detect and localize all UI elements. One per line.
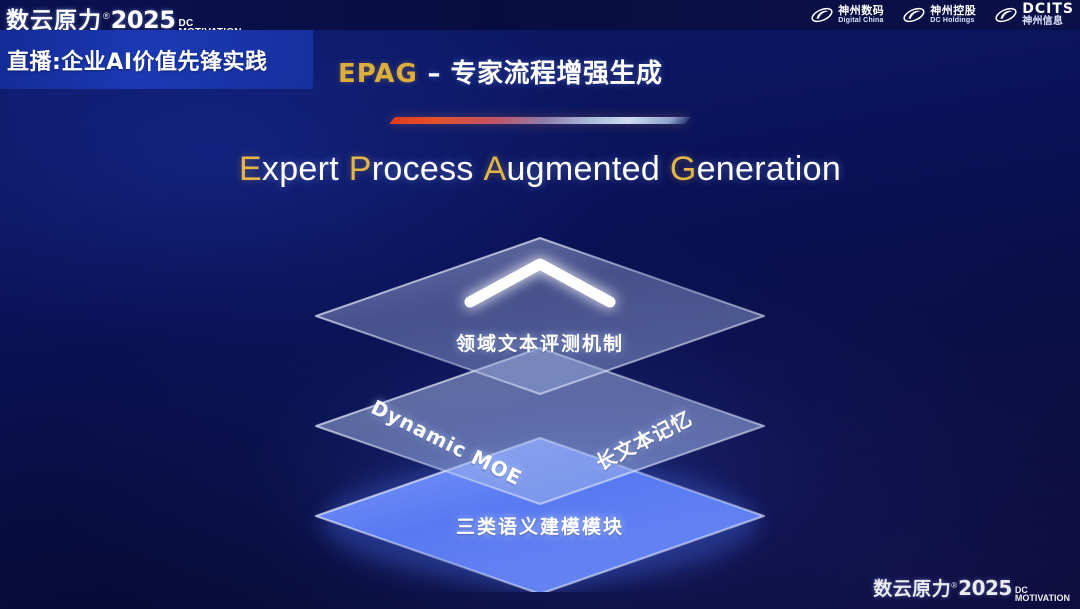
partner-logo-group: 神州数码 Digital China 神州控股 DC Holdings (810, 2, 1074, 27)
partner-name-en: DC Holdings (930, 17, 976, 24)
swirl-logo-icon (994, 5, 1018, 25)
footer-watermark-logo: 数云原力 ® 2025 DC MOTIVATION (873, 574, 1070, 605)
page-subtitle: Expert Process Augmented Generation (0, 150, 1080, 189)
isometric-layer-stack: 领域文本评测机制 Dynamic MOE 长文本记忆 三类语义建模模块 (290, 222, 790, 592)
layer-stack-graphic (290, 222, 790, 592)
swirl-logo-icon (810, 5, 834, 25)
partner-logo-digital-china: 神州数码 Digital China (810, 5, 884, 25)
subtitle-word-0-cap: E (239, 150, 262, 188)
watermark-year: 2025 (958, 576, 1012, 600)
live-stream-banner-text: 直播:企业AI价值先锋实践 (0, 44, 268, 76)
subtitle-word-1-cap: P (349, 150, 372, 188)
subtitle-word-3-cap: G (670, 150, 697, 188)
subtitle-word-3-rest: eneration (697, 150, 841, 188)
partner-name-en: 神州信息 (1022, 17, 1074, 27)
partner-name-en: Digital China (838, 17, 884, 24)
partner-label: 神州数码 Digital China (838, 5, 884, 24)
stack-layer-top (316, 238, 764, 394)
subtitle-space-0 (339, 150, 349, 188)
partner-name-cn: 神州数码 (838, 5, 884, 16)
partner-label: 神州控股 DC Holdings (930, 5, 976, 24)
registered-mark: ® (103, 11, 110, 21)
subtitle-word-1-rest: rocess (372, 150, 474, 188)
slide-canvas: 数云原力 ® 2025 DC MOTIVATION 神州数码 Digital C… (0, 0, 1080, 609)
swirl-logo-icon (902, 5, 926, 25)
page-title: EPAG – 专家流程增强生成 (338, 53, 663, 90)
subtitle-word-0-rest: xpert (262, 150, 339, 188)
page-title-separator: – (418, 59, 451, 89)
live-stream-banner: 直播:企业AI价值先锋实践 (0, 30, 313, 89)
partner-label: DCITS 神州信息 (1022, 2, 1074, 27)
gradient-accent-bar (389, 117, 690, 124)
partner-logo-dc-holdings: 神州控股 DC Holdings (902, 5, 976, 25)
page-title-cn: 专家流程增强生成 (451, 59, 663, 89)
subtitle-word-2-rest: ugmented (506, 150, 660, 188)
partner-logo-dcits: DCITS 神州信息 (994, 2, 1074, 27)
watermark-registered-mark: ® (951, 581, 957, 590)
page-title-acronym: EPAG (338, 59, 418, 89)
top-bar: 数云原力 ® 2025 DC MOTIVATION 神州数码 Digital C… (0, 0, 1080, 30)
subtitle-space-2 (660, 150, 670, 188)
watermark-dc-motivation: DC MOTIVATION (1015, 586, 1070, 603)
watermark-name-cn: 数云原力 (873, 574, 951, 601)
partner-name-cn: DCITS (1022, 2, 1074, 16)
partner-name-cn: 神州控股 (930, 5, 976, 16)
subtitle-space-1 (474, 150, 484, 188)
subtitle-word-2-cap: A (483, 150, 506, 188)
watermark-dc-line2: MOTIVATION (1015, 594, 1070, 603)
